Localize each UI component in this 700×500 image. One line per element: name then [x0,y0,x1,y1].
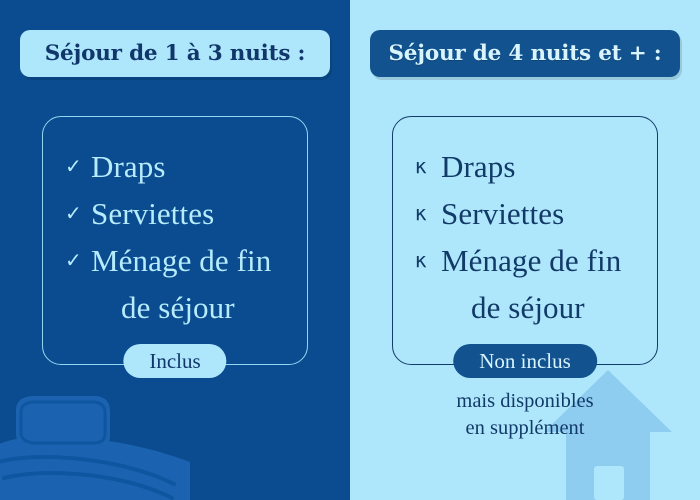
inclusions-list-long-stay: κ Draps κ Serviettes κ Ménage de fin de … [393,143,657,331]
list-item-label: Ménage de fin [91,243,271,278]
panel-long-stay: Séjour de 4 nuits et + : κ Draps κ Servi… [350,0,700,500]
check-icon: ✓ [65,190,91,237]
panel-header-short-stay: Séjour de 1 à 3 nuits : [20,30,330,77]
list-item-label: Serviettes [91,196,214,231]
list-item: κ Draps [415,143,643,190]
folded-linen-and-pillow-illustration [0,370,190,500]
supplement-note: mais disponibles en supplément [350,388,700,442]
cross-icon: κ [415,190,441,237]
check-icon: ✓ [65,143,91,190]
inclusions-card-long-stay: κ Draps κ Serviettes κ Ménage de fin de … [392,116,658,365]
status-badge-not-included: Non inclus [453,344,597,378]
cross-icon: κ [415,237,441,284]
panel-header-title: Séjour de 1 à 3 nuits : [45,41,306,66]
list-item: κ Serviettes [415,190,643,237]
panel-short-stay: Séjour de 1 à 3 nuits : ✓ Draps ✓ Servie… [0,0,350,500]
list-item-label: Serviettes [441,196,564,231]
panel-header-title: Séjour de 4 nuits et + : [388,41,661,66]
supplement-note-line1: mais disponibles [350,388,700,415]
status-badge-label: Inclus [149,351,200,372]
list-item-label: Draps [441,149,516,184]
panel-header-long-stay: Séjour de 4 nuits et + : [370,30,680,77]
list-item: ✓ Serviettes [65,190,293,237]
list-item-label-line2: de séjour [441,284,621,331]
stay-inclusions-infographic: Séjour de 1 à 3 nuits : ✓ Draps ✓ Servie… [0,0,700,500]
status-badge-label: Non inclus [479,351,571,372]
inclusions-card-short-stay: ✓ Draps ✓ Serviettes ✓ Ménage de fin de … [42,116,308,365]
inclusions-list-short-stay: ✓ Draps ✓ Serviettes ✓ Ménage de fin de … [43,143,307,331]
list-item-label-line2: de séjour [91,284,271,331]
list-item: ✓ Draps [65,143,293,190]
list-item: ✓ Ménage de fin de séjour [65,237,293,331]
list-item: κ Ménage de fin de séjour [415,237,643,331]
status-badge-included: Inclus [123,344,226,378]
cross-icon: κ [415,143,441,190]
list-item-label: Ménage de fin [441,243,621,278]
supplement-note-line2: en supplément [350,415,700,442]
check-icon: ✓ [65,237,91,284]
list-item-label: Draps [91,149,166,184]
